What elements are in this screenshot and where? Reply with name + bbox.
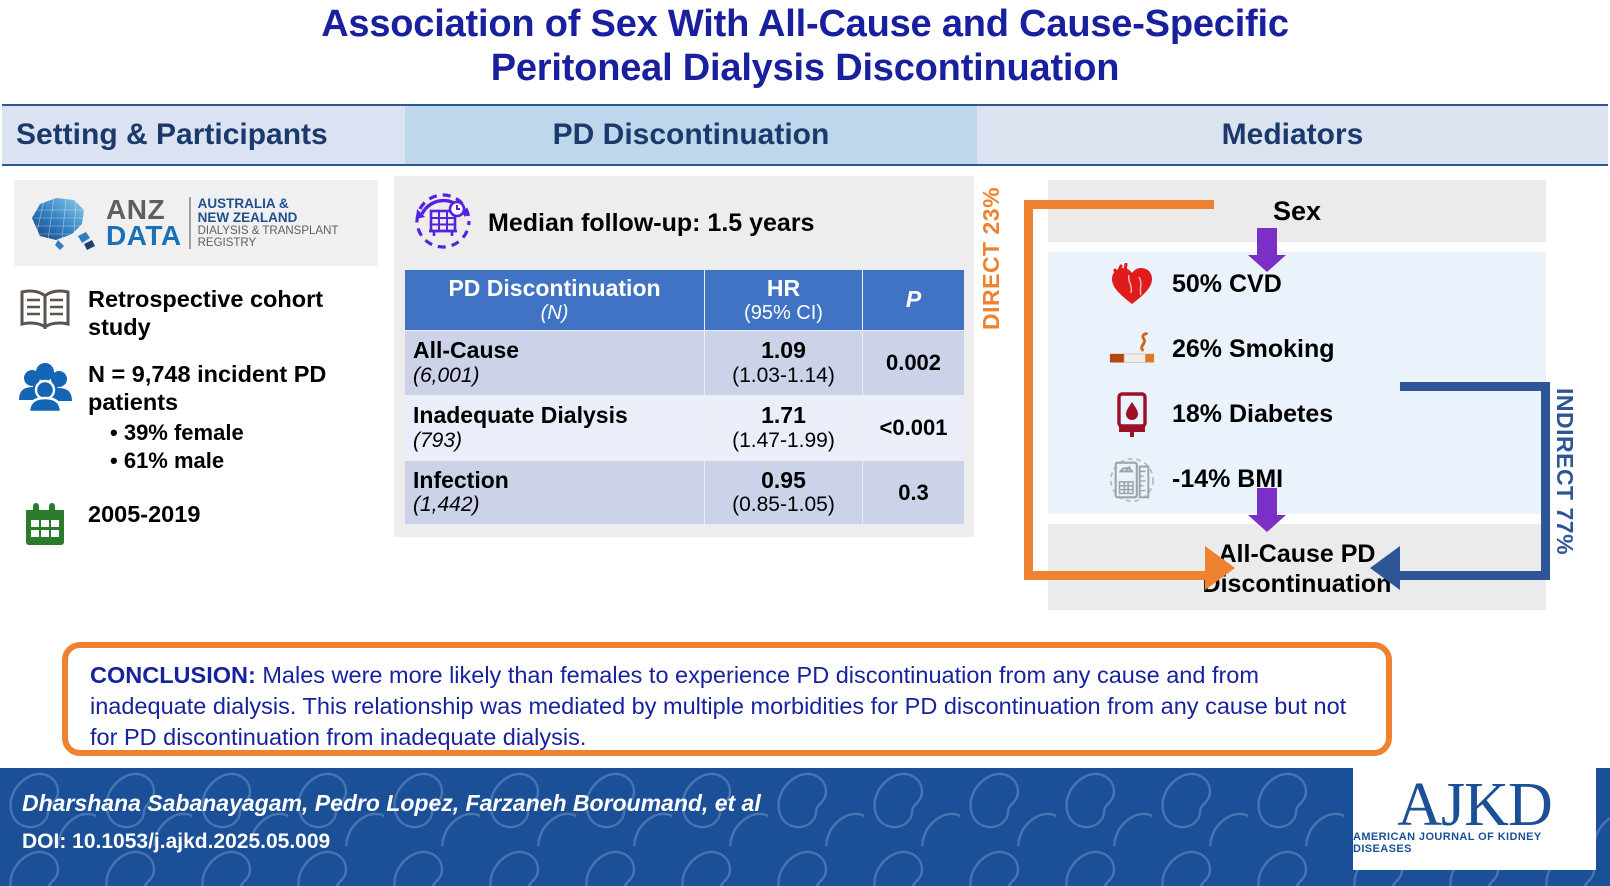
band-pd-discontinuation: PD Discontinuation: [405, 106, 977, 164]
doi-text: DOI: 10.1053/j.ajkd.2025.05.009: [22, 830, 330, 854]
table-row: All-Cause (6,001) 1.09 (1.03-1.14) 0.002: [405, 331, 965, 396]
direct-effect-path: [1024, 200, 1214, 580]
visual-abstract-poster: Association of Sex With All-Cause and Ca…: [0, 0, 1610, 886]
conclusion-text: CONCLUSION: Males were more likely than …: [90, 660, 1364, 753]
direct-effect-label: DIRECT 23%: [978, 187, 1005, 330]
logo-line-3: DIALYSIS & TRANSPLANT: [198, 225, 339, 237]
australia-map-icon: [22, 190, 98, 256]
direct-effect-arrowhead: [1205, 546, 1235, 590]
participants-label: N = 9,748 incident PD patients: [88, 359, 392, 416]
title-line-2: Peritoneal Dialysis Discontinuation: [0, 46, 1610, 90]
open-book-icon: [12, 284, 78, 329]
band-mediators: Mediators: [977, 106, 1608, 164]
median-followup-label: Median follow-up: 1.5 years: [488, 209, 814, 238]
participants-row: N = 9,748 incident PD patients • 39% fem…: [12, 359, 392, 475]
cell-hr: 1.09 (1.03-1.14): [705, 331, 863, 396]
section-header-band: Setting & Participants PD Discontinuatio…: [2, 104, 1608, 166]
cell-cause: Infection (1,442): [405, 460, 705, 525]
page-title: Association of Sex With All-Cause and Ca…: [0, 2, 1610, 90]
ajkd-logo: AJKD AMERICAN JOURNAL OF KIDNEY DISEASES: [1353, 762, 1596, 870]
col-header-pvalue: P: [863, 270, 965, 331]
logo-line-2: NEW ZEALAND: [198, 211, 339, 225]
mediators-to-outcome-arrow: [1257, 488, 1277, 516]
table-header-row: PD Discontinuation (N) HR (95% CI) P: [405, 270, 965, 331]
sub-bullet-male: • 61% male: [110, 447, 392, 475]
conclusion-box: CONCLUSION: Males were more likely than …: [62, 642, 1392, 756]
people-group-icon: [12, 359, 78, 412]
pd-discontinuation-column: Median follow-up: 1.5 years PD Discontin…: [392, 172, 980, 537]
col-header-discontinuation: PD Discontinuation (N): [405, 270, 705, 331]
cell-cause: Inadequate Dialysis (793): [405, 395, 705, 460]
study-design-label: Retrospective cohort study: [88, 284, 392, 341]
median-followup-row: Median follow-up: 1.5 years: [394, 186, 974, 269]
table-row: Infection (1,442) 0.95 (0.85-1.05) 0.3: [405, 460, 965, 525]
author-list: Dharshana Sabanayagam, Pedro Lopez, Farz…: [22, 790, 761, 817]
cell-pvalue: <0.001: [863, 395, 965, 460]
cell-hr: 0.95 (0.85-1.05): [705, 460, 863, 525]
sex-breakdown: • 39% female • 61% male: [88, 419, 392, 475]
cell-cause: All-Cause (6,001): [405, 331, 705, 396]
anzdata-wordmark: ANZ DATA AUSTRALIA & NEW ZEALAND DIALYSI…: [106, 197, 338, 250]
sex-to-mediators-arrow: [1257, 228, 1277, 256]
sub-bullet-female: • 39% female: [110, 419, 392, 447]
setting-participants-column: ANZ DATA AUSTRALIA & NEW ZEALAND DIALYSI…: [0, 172, 392, 546]
col-header-hr: HR (95% CI): [705, 270, 863, 331]
conclusion-body: Males were more likely than females to e…: [90, 662, 1346, 750]
logo-line-1: AUSTRALIA &: [198, 197, 339, 211]
study-design-row: Retrospective cohort study: [12, 284, 392, 341]
years-row: 2005-2019: [12, 499, 392, 546]
indirect-effect-arrowhead: [1370, 546, 1400, 590]
ajkd-wordmark: AJKD: [1397, 777, 1551, 834]
indirect-effect-path: [1400, 382, 1550, 580]
study-years-label: 2005-2019: [88, 499, 200, 529]
hazard-ratio-table: PD Discontinuation (N) HR (95% CI) P: [404, 269, 965, 525]
indirect-effect-label: INDIRECT 77%: [1551, 388, 1578, 555]
discontinuation-panel: Median follow-up: 1.5 years PD Discontin…: [394, 176, 974, 537]
logo-divider: [189, 197, 191, 249]
cell-pvalue: 0.002: [863, 331, 965, 396]
table-row: Inadequate Dialysis (793) 1.71 (1.47-1.9…: [405, 395, 965, 460]
calendar-icon: [12, 499, 78, 546]
anzdata-logo: ANZ DATA AUSTRALIA & NEW ZEALAND DIALYSI…: [14, 180, 378, 266]
data-text: DATA: [106, 223, 182, 249]
band-setting-participants: Setting & Participants: [2, 106, 405, 164]
cell-hr: 1.71 (1.47-1.99): [705, 395, 863, 460]
followup-calendar-icon: [412, 190, 474, 257]
ajkd-tagline: AMERICAN JOURNAL OF KIDNEY DISEASES: [1353, 831, 1596, 855]
logo-line-4: REGISTRY: [198, 237, 339, 249]
conclusion-prefix: CONCLUSION:: [90, 662, 256, 688]
title-line-1: Association of Sex With All-Cause and Ca…: [0, 2, 1610, 46]
cell-pvalue: 0.3: [863, 460, 965, 525]
